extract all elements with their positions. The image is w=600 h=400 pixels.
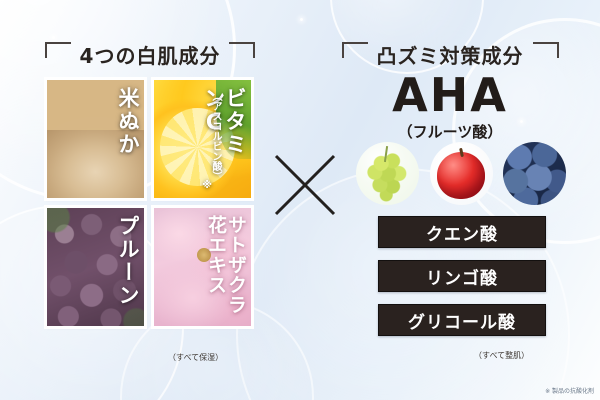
tile-label-hana-ekisu: 花エキス [206, 215, 225, 319]
apple-icon [430, 142, 493, 205]
grapes-icon [356, 142, 419, 205]
blueberries-icon [503, 142, 566, 205]
acid-list: クエン酸 リンゴ酸 グリコール酸 [378, 216, 546, 336]
right-note: （すべて整肌） [474, 350, 529, 361]
disclaimer-text: ※ 製品の抗酸化剤 [545, 386, 594, 395]
left-section-heading: 4つの白肌成分 [34, 40, 266, 69]
corner-bracket-right-icon [229, 42, 255, 58]
tile-label-vitamin-c: ビタミンC ※ [202, 87, 245, 191]
sparkle-decoration [52, 36, 55, 39]
corner-bracket-right-icon [533, 42, 559, 58]
tile-label-prune: プルーン [117, 215, 138, 319]
right-heading-text: 凸ズミ対策成分 [377, 40, 524, 69]
aha-title-block: AHA （フルーツ酸） [334, 72, 566, 142]
tile-label-vitamin-c-text: ビタミンC [202, 87, 245, 179]
right-section-heading: 凸ズミ対策成分 [334, 40, 566, 69]
ingredient-tile-rice-bran[interactable]: 米ぬか [47, 80, 144, 198]
infographic-canvas: 4つの白肌成分 米ぬか ビタミンC ※ （アスコルビン酸） プルーン サトザクラ… [0, 0, 600, 400]
acid-bar-malic[interactable]: リンゴ酸 [378, 260, 546, 292]
ingredient-tile-grid: 米ぬか ビタミンC ※ （アスコルビン酸） プルーン サトザクラ 花エキス [47, 80, 251, 326]
ingredient-tile-vitamin-c[interactable]: ビタミンC ※ （アスコルビン酸） [154, 80, 251, 198]
tile-label-sato-zakura: サトザクラ [226, 215, 245, 319]
ingredient-tile-sato-zakura[interactable]: サトザクラ 花エキス [154, 208, 251, 326]
acid-bar-glycolic[interactable]: グリコール酸 [378, 304, 546, 336]
aha-subtitle: （フルーツ酸） [334, 121, 566, 142]
tile-sublabel-ascorbic-acid: （アスコルビン酸） [210, 91, 220, 191]
acid-bar-citric[interactable]: クエン酸 [378, 216, 546, 248]
ingredient-tile-prune[interactable]: プルーン [47, 208, 144, 326]
corner-bracket-left-icon [45, 42, 71, 58]
tile-label-rice-bran: 米ぬか [117, 87, 138, 191]
sparkle-decoration [300, 18, 303, 21]
fruit-icon-row [356, 142, 566, 205]
left-heading-text: 4つの白肌成分 [80, 40, 221, 69]
multiply-symbol [272, 152, 338, 218]
aha-title: AHA [334, 72, 566, 118]
corner-bracket-left-icon [342, 42, 368, 58]
multiply-cross-icon [272, 152, 338, 218]
left-note: （すべて保湿） [168, 352, 223, 363]
